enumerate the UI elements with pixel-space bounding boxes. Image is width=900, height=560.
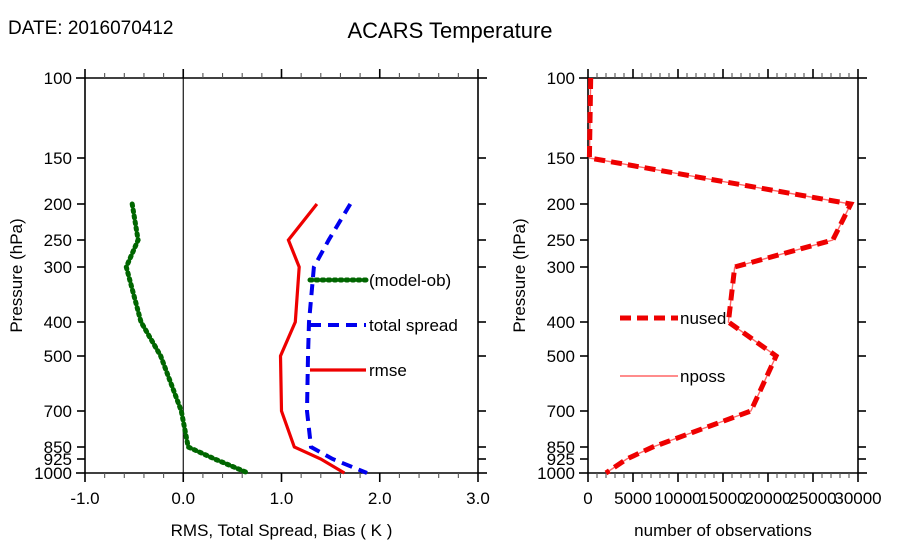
y-axis-title[interactable]: Pressure (hPa) xyxy=(510,218,529,332)
ytick-label[interactable]: 150 xyxy=(547,149,575,168)
xtick-label[interactable]: 3.0 xyxy=(466,489,490,508)
ytick-label[interactable]: 400 xyxy=(547,313,575,332)
series--model-ob-[interactable] xyxy=(126,204,248,473)
x-axis-title[interactable]: RMS, Total Spread, Bias ( K ) xyxy=(171,521,393,540)
xtick-label[interactable]: -1.0 xyxy=(70,489,99,508)
legend-label[interactable]: nused xyxy=(680,309,726,328)
xtick-label[interactable]: 20000 xyxy=(744,489,791,508)
ytick-label[interactable]: 700 xyxy=(44,402,72,421)
ytick-label[interactable]: 500 xyxy=(547,347,575,366)
ytick-label[interactable]: 150 xyxy=(44,149,72,168)
legend-label[interactable]: rmse xyxy=(369,361,407,380)
xtick-label[interactable]: 1.0 xyxy=(270,489,294,508)
series-nused[interactable] xyxy=(589,78,850,473)
ytick-label[interactable]: 100 xyxy=(547,69,575,88)
xtick-label[interactable]: 30000 xyxy=(834,489,881,508)
ytick-label[interactable]: 300 xyxy=(44,258,72,277)
series-total-spread[interactable] xyxy=(307,204,367,473)
left-plot: 1001502002503004005007008509251000-1.00.… xyxy=(7,69,490,540)
x-axis-title[interactable]: number of observations xyxy=(634,521,812,540)
xtick-label[interactable]: 0.0 xyxy=(171,489,195,508)
xtick-label[interactable]: 25000 xyxy=(789,489,836,508)
ytick-label[interactable]: 500 xyxy=(44,347,72,366)
xtick-label[interactable]: 5000 xyxy=(614,489,652,508)
right-plot: 1001502002503004005007008509251000050001… xyxy=(510,69,882,540)
legend-label[interactable]: nposs xyxy=(680,367,725,386)
legend-label[interactable]: (model-ob) xyxy=(369,271,451,290)
ytick-label[interactable]: 250 xyxy=(44,231,72,250)
ytick-label[interactable]: 200 xyxy=(44,195,72,214)
ytick-label[interactable]: 400 xyxy=(44,313,72,332)
ytick-label[interactable]: 250 xyxy=(547,231,575,250)
ytick-label[interactable]: 700 xyxy=(547,402,575,421)
chart-page: DATE: 2016070412 ACARS Temperature 10015… xyxy=(0,0,900,560)
ytick-label[interactable]: 200 xyxy=(547,195,575,214)
ytick-label[interactable]: 1000 xyxy=(34,464,72,483)
ytick-label[interactable]: 300 xyxy=(547,258,575,277)
ytick-label[interactable]: 1000 xyxy=(537,464,575,483)
ytick-label[interactable]: 100 xyxy=(44,69,72,88)
xtick-label[interactable]: 15000 xyxy=(699,489,746,508)
profile-plots: 1001502002503004005007008509251000-1.00.… xyxy=(0,0,900,560)
xtick-label[interactable]: 0 xyxy=(583,489,592,508)
series-rmse[interactable] xyxy=(281,204,345,473)
legend-label[interactable]: total spread xyxy=(369,316,458,335)
xtick-label[interactable]: 2.0 xyxy=(368,489,392,508)
xtick-label[interactable]: 10000 xyxy=(654,489,701,508)
y-axis-title[interactable]: Pressure (hPa) xyxy=(7,218,26,332)
series-nposs[interactable] xyxy=(589,78,850,473)
